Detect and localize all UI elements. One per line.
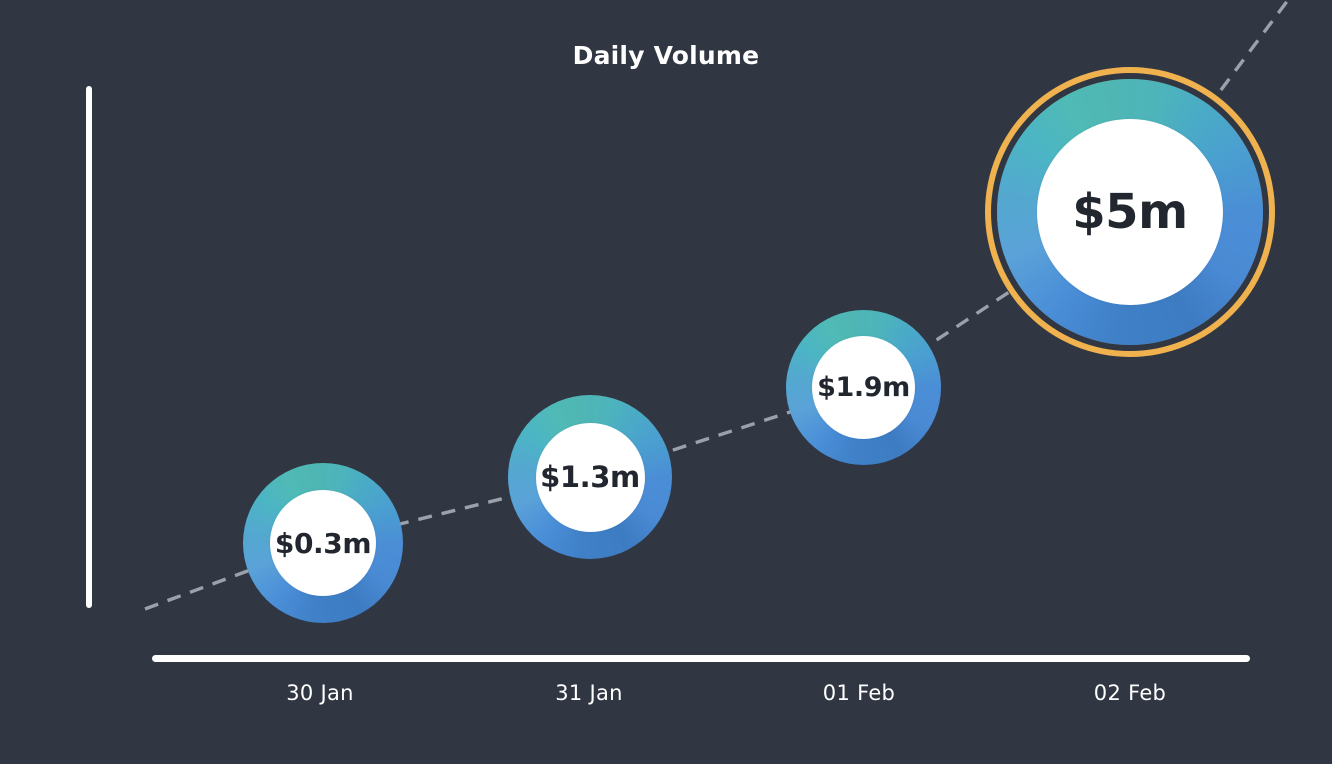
bubble-value-label: $1.9m bbox=[817, 372, 910, 403]
x-axis-tick-labels: 30 Jan 31 Jan 01 Feb 02 Feb bbox=[152, 678, 1250, 718]
x-tick-label: 01 Feb bbox=[759, 678, 959, 708]
bubble-value-label: $0.3m bbox=[275, 527, 371, 560]
data-bubble[interactable]: $1.3m bbox=[508, 395, 672, 559]
bubble-value-label: $1.3m bbox=[540, 460, 640, 494]
bubble-value-label: $5m bbox=[1072, 184, 1188, 240]
x-tick-label: 31 Jan bbox=[489, 678, 689, 708]
chart-canvas: Daily Volume $0.3m $1.3m $1.9m $5m 30 Ja… bbox=[0, 0, 1332, 764]
data-bubble[interactable]: $1.9m bbox=[786, 310, 941, 465]
x-axis-line bbox=[152, 655, 1250, 662]
data-bubble-highlighted[interactable]: $5m bbox=[997, 79, 1263, 345]
bubble-core: $0.3m bbox=[270, 490, 376, 596]
bubble-core: $5m bbox=[1037, 119, 1223, 305]
bubble-core: $1.9m bbox=[812, 336, 915, 439]
data-bubble[interactable]: $0.3m bbox=[243, 463, 403, 623]
x-tick-label: 30 Jan bbox=[220, 678, 420, 708]
chart-title: Daily Volume bbox=[0, 40, 1332, 72]
bubble-core: $1.3m bbox=[536, 423, 645, 532]
x-tick-label: 02 Feb bbox=[1030, 678, 1230, 708]
y-axis-line bbox=[86, 86, 92, 608]
